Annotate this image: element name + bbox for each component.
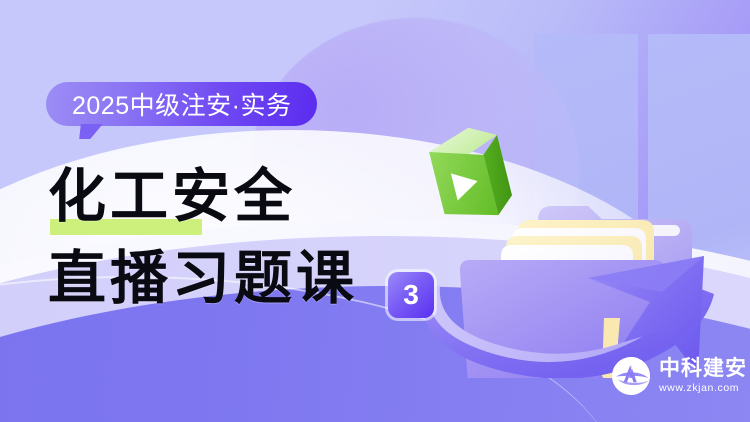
brand-url: www.zkjan.com	[659, 383, 747, 394]
episode-number-badge: 3	[388, 272, 434, 318]
course-tag-tail	[79, 124, 103, 139]
course-tag-badge: 2025中级注安·实务	[46, 82, 317, 126]
text-content: 2025中级注安·实务 化工安全 直播习题课 3	[0, 0, 470, 422]
course-promo-banner: 2025中级注安·实务 化工安全 直播习题课 3 中科建安 www.zkjan.…	[0, 0, 750, 422]
page-title-line1: 化工安全	[48, 168, 296, 226]
brand-name: 中科建安	[659, 358, 747, 379]
logo-text-block: 中科建安 www.zkjan.com	[659, 358, 747, 394]
brand-logo: 中科建安 www.zkjan.com	[612, 357, 747, 395]
page-title-line2: 直播习题课	[48, 250, 358, 308]
course-tag-wrap: 2025中级注安·实务	[46, 82, 317, 126]
zkjan-circle-logo-icon	[612, 357, 650, 395]
